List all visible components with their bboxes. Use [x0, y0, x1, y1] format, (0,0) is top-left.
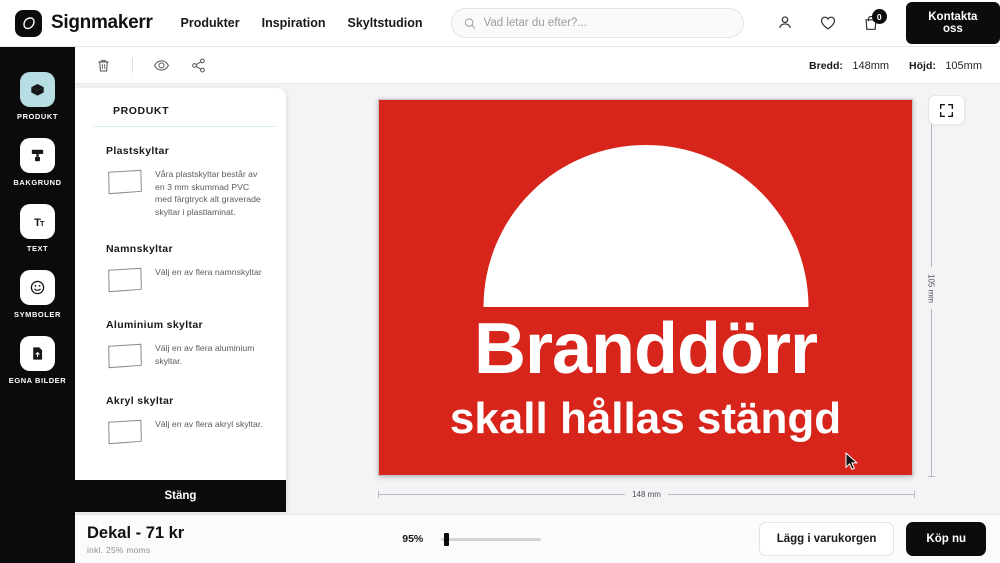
- search-input[interactable]: [484, 17, 731, 29]
- signmakerr-logo-icon: [15, 10, 42, 37]
- editor-toolbar: Bredd: 148mm Höjd: 105mm: [75, 47, 1000, 84]
- brand[interactable]: Signmakerr: [15, 10, 153, 37]
- panel-heading: PRODUKT: [94, 88, 277, 127]
- nav-item-skyltstudion[interactable]: Skyltstudion: [348, 16, 423, 30]
- search-icon: [464, 17, 476, 30]
- product-entry-namnskyltar[interactable]: Namnskyltar Välj en av flera namnskyltar: [106, 243, 270, 294]
- sign-subtitle-text[interactable]: skall hållas stängd: [379, 397, 912, 441]
- brand-name: Signmakerr: [51, 12, 153, 34]
- product-row[interactable]: Välj en av flera akryl skyltar.: [106, 418, 270, 446]
- height-label: Höjd:: [909, 60, 936, 72]
- ruler-horizontal-label: 148 mm: [625, 490, 668, 499]
- product-entry-akryl-skyltar[interactable]: Akryl skyltar Välj en av flera akryl sky…: [106, 395, 270, 446]
- paint-roller-icon: [20, 138, 55, 173]
- ruler-vcap-bottom: [928, 476, 935, 477]
- product-row[interactable]: Välj en av flera namnskyltar: [106, 266, 270, 294]
- share-icon[interactable]: [190, 57, 207, 74]
- svg-text:T: T: [40, 219, 45, 228]
- buy-now-button[interactable]: Köp nu: [906, 522, 986, 556]
- rail-item-symboler[interactable]: SYMBOLER: [0, 270, 75, 319]
- sign-plate-icon: [106, 342, 144, 370]
- width-label: Bredd:: [809, 60, 843, 72]
- add-to-cart-button[interactable]: Lägg i varukorgen: [759, 522, 895, 556]
- wishlist-heart-icon[interactable]: [819, 14, 837, 32]
- rail-item-bakgrund[interactable]: BAKGRUND: [0, 138, 75, 187]
- bottom-actions: Lägg i varukorgen Köp nu: [759, 522, 986, 556]
- product-title: Namnskyltar: [106, 243, 270, 255]
- zoom-slider-thumb[interactable]: [444, 533, 449, 546]
- cart-count-badge: 0: [872, 9, 887, 24]
- height-readout: Höjd: 105mm: [909, 56, 982, 74]
- width-value: 148mm: [852, 60, 889, 72]
- product-entry-aluminium-skyltar[interactable]: Aluminium skyltar Välj en av flera alumi…: [106, 319, 270, 370]
- product-title: Aluminium skyltar: [106, 319, 270, 331]
- dome-shape-icon[interactable]: [483, 145, 808, 307]
- account-icon[interactable]: [776, 14, 794, 32]
- product-description: Välj en av flera akryl skyltar.: [155, 418, 263, 446]
- dimension-readout: Bredd: 148mm Höjd: 105mm: [809, 56, 982, 74]
- toolbar-divider: [132, 58, 133, 73]
- tool-rail: PRODUKT BAKGRUND T T TEXT: [0, 47, 75, 563]
- zoom-percent-label: 95%: [402, 533, 423, 545]
- upload-file-icon: [20, 336, 55, 371]
- ruler-vline-bottom: [931, 309, 932, 476]
- rail-label-produkt: PRODUKT: [17, 112, 58, 121]
- ruler-vertical-label: 105 mm: [927, 267, 936, 310]
- rail-item-text[interactable]: T T TEXT: [0, 204, 75, 253]
- fullscreen-expand-icon[interactable]: [928, 95, 965, 125]
- height-value: 105mm: [945, 60, 982, 72]
- rail-label-text: TEXT: [27, 244, 48, 253]
- nav-item-inspiration[interactable]: Inspiration: [262, 16, 326, 30]
- product-entry-plastskyltar[interactable]: Plastskyltar Våra plastskyltar består av…: [106, 145, 270, 218]
- product-panel[interactable]: PRODUKT Plastskyltar Våra plastskyltar b…: [75, 88, 286, 512]
- ruler-horizontal: 148 mm: [378, 486, 915, 502]
- contact-button[interactable]: Kontakta oss: [906, 2, 1000, 44]
- eye-preview-icon[interactable]: [153, 57, 170, 74]
- sign-plate-icon: [106, 168, 144, 196]
- width-readout: Bredd: 148mm: [809, 56, 889, 74]
- zoom-control: 95%: [402, 533, 541, 545]
- header-icon-group: 0: [776, 14, 880, 32]
- product-title: Akryl skyltar: [106, 395, 270, 407]
- rail-item-egna-bilder[interactable]: EGNA BILDER: [0, 336, 75, 385]
- text-tt-icon: T T: [20, 204, 55, 239]
- rail-item-produkt[interactable]: PRODUKT: [0, 72, 75, 121]
- search-bar[interactable]: [451, 8, 744, 38]
- cart-bag-icon[interactable]: 0: [862, 14, 880, 32]
- sign-plate-icon: [106, 266, 144, 294]
- product-title: Plastskyltar: [106, 145, 270, 157]
- price-subtitle: inkl. 25% moms: [87, 545, 184, 555]
- price-block: Dekal - 71 kr inkl. 25% moms: [87, 524, 184, 555]
- nav-item-produkter[interactable]: Produkter: [181, 16, 240, 30]
- rail-label-symboler: SYMBOLER: [14, 310, 61, 319]
- zoom-slider[interactable]: [441, 533, 541, 545]
- product-box-icon: [20, 72, 55, 107]
- product-row[interactable]: Våra plastskyltar består av en 3 mm skum…: [106, 168, 270, 218]
- trash-icon[interactable]: [95, 57, 112, 74]
- sign-artboard[interactable]: Branddörr skall hållas stängd: [378, 99, 913, 476]
- ruler-line-left: [379, 494, 625, 495]
- product-row[interactable]: Välj en av flera aluminium skyltar.: [106, 342, 270, 370]
- rail-label-egna-bilder: EGNA BILDER: [9, 376, 66, 385]
- ruler-cap-right: [914, 491, 915, 498]
- ruler-line-right: [668, 494, 914, 495]
- signmakerr-editor-app: Signmakerr Produkter Inspiration Skyltst…: [0, 0, 1000, 563]
- zoom-slider-track: [441, 538, 541, 541]
- panel-close-button[interactable]: Stäng: [75, 480, 286, 512]
- bottom-bar: Dekal - 71 kr inkl. 25% moms 95% Lägg i …: [75, 514, 1000, 563]
- sign-title-text[interactable]: Branddörr: [379, 313, 912, 385]
- site-header: Signmakerr Produkter Inspiration Skyltst…: [0, 0, 1000, 47]
- sign-plate-icon: [106, 418, 144, 446]
- main-nav: Produkter Inspiration Skyltstudion: [181, 16, 423, 30]
- product-description: Våra plastskyltar består av en 3 mm skum…: [155, 168, 267, 218]
- ruler-vline-top: [931, 100, 932, 267]
- product-description: Välj en av flera namnskyltar: [155, 266, 262, 294]
- smiley-icon: [20, 270, 55, 305]
- product-description: Välj en av flera aluminium skyltar.: [155, 342, 267, 370]
- rail-label-bakgrund: BAKGRUND: [13, 178, 61, 187]
- ruler-vertical: 105 mm: [923, 99, 939, 477]
- price-title: Dekal - 71 kr: [87, 524, 184, 543]
- panel-body: Plastskyltar Våra plastskyltar består av…: [75, 127, 286, 446]
- mouse-pointer-icon: [845, 452, 859, 471]
